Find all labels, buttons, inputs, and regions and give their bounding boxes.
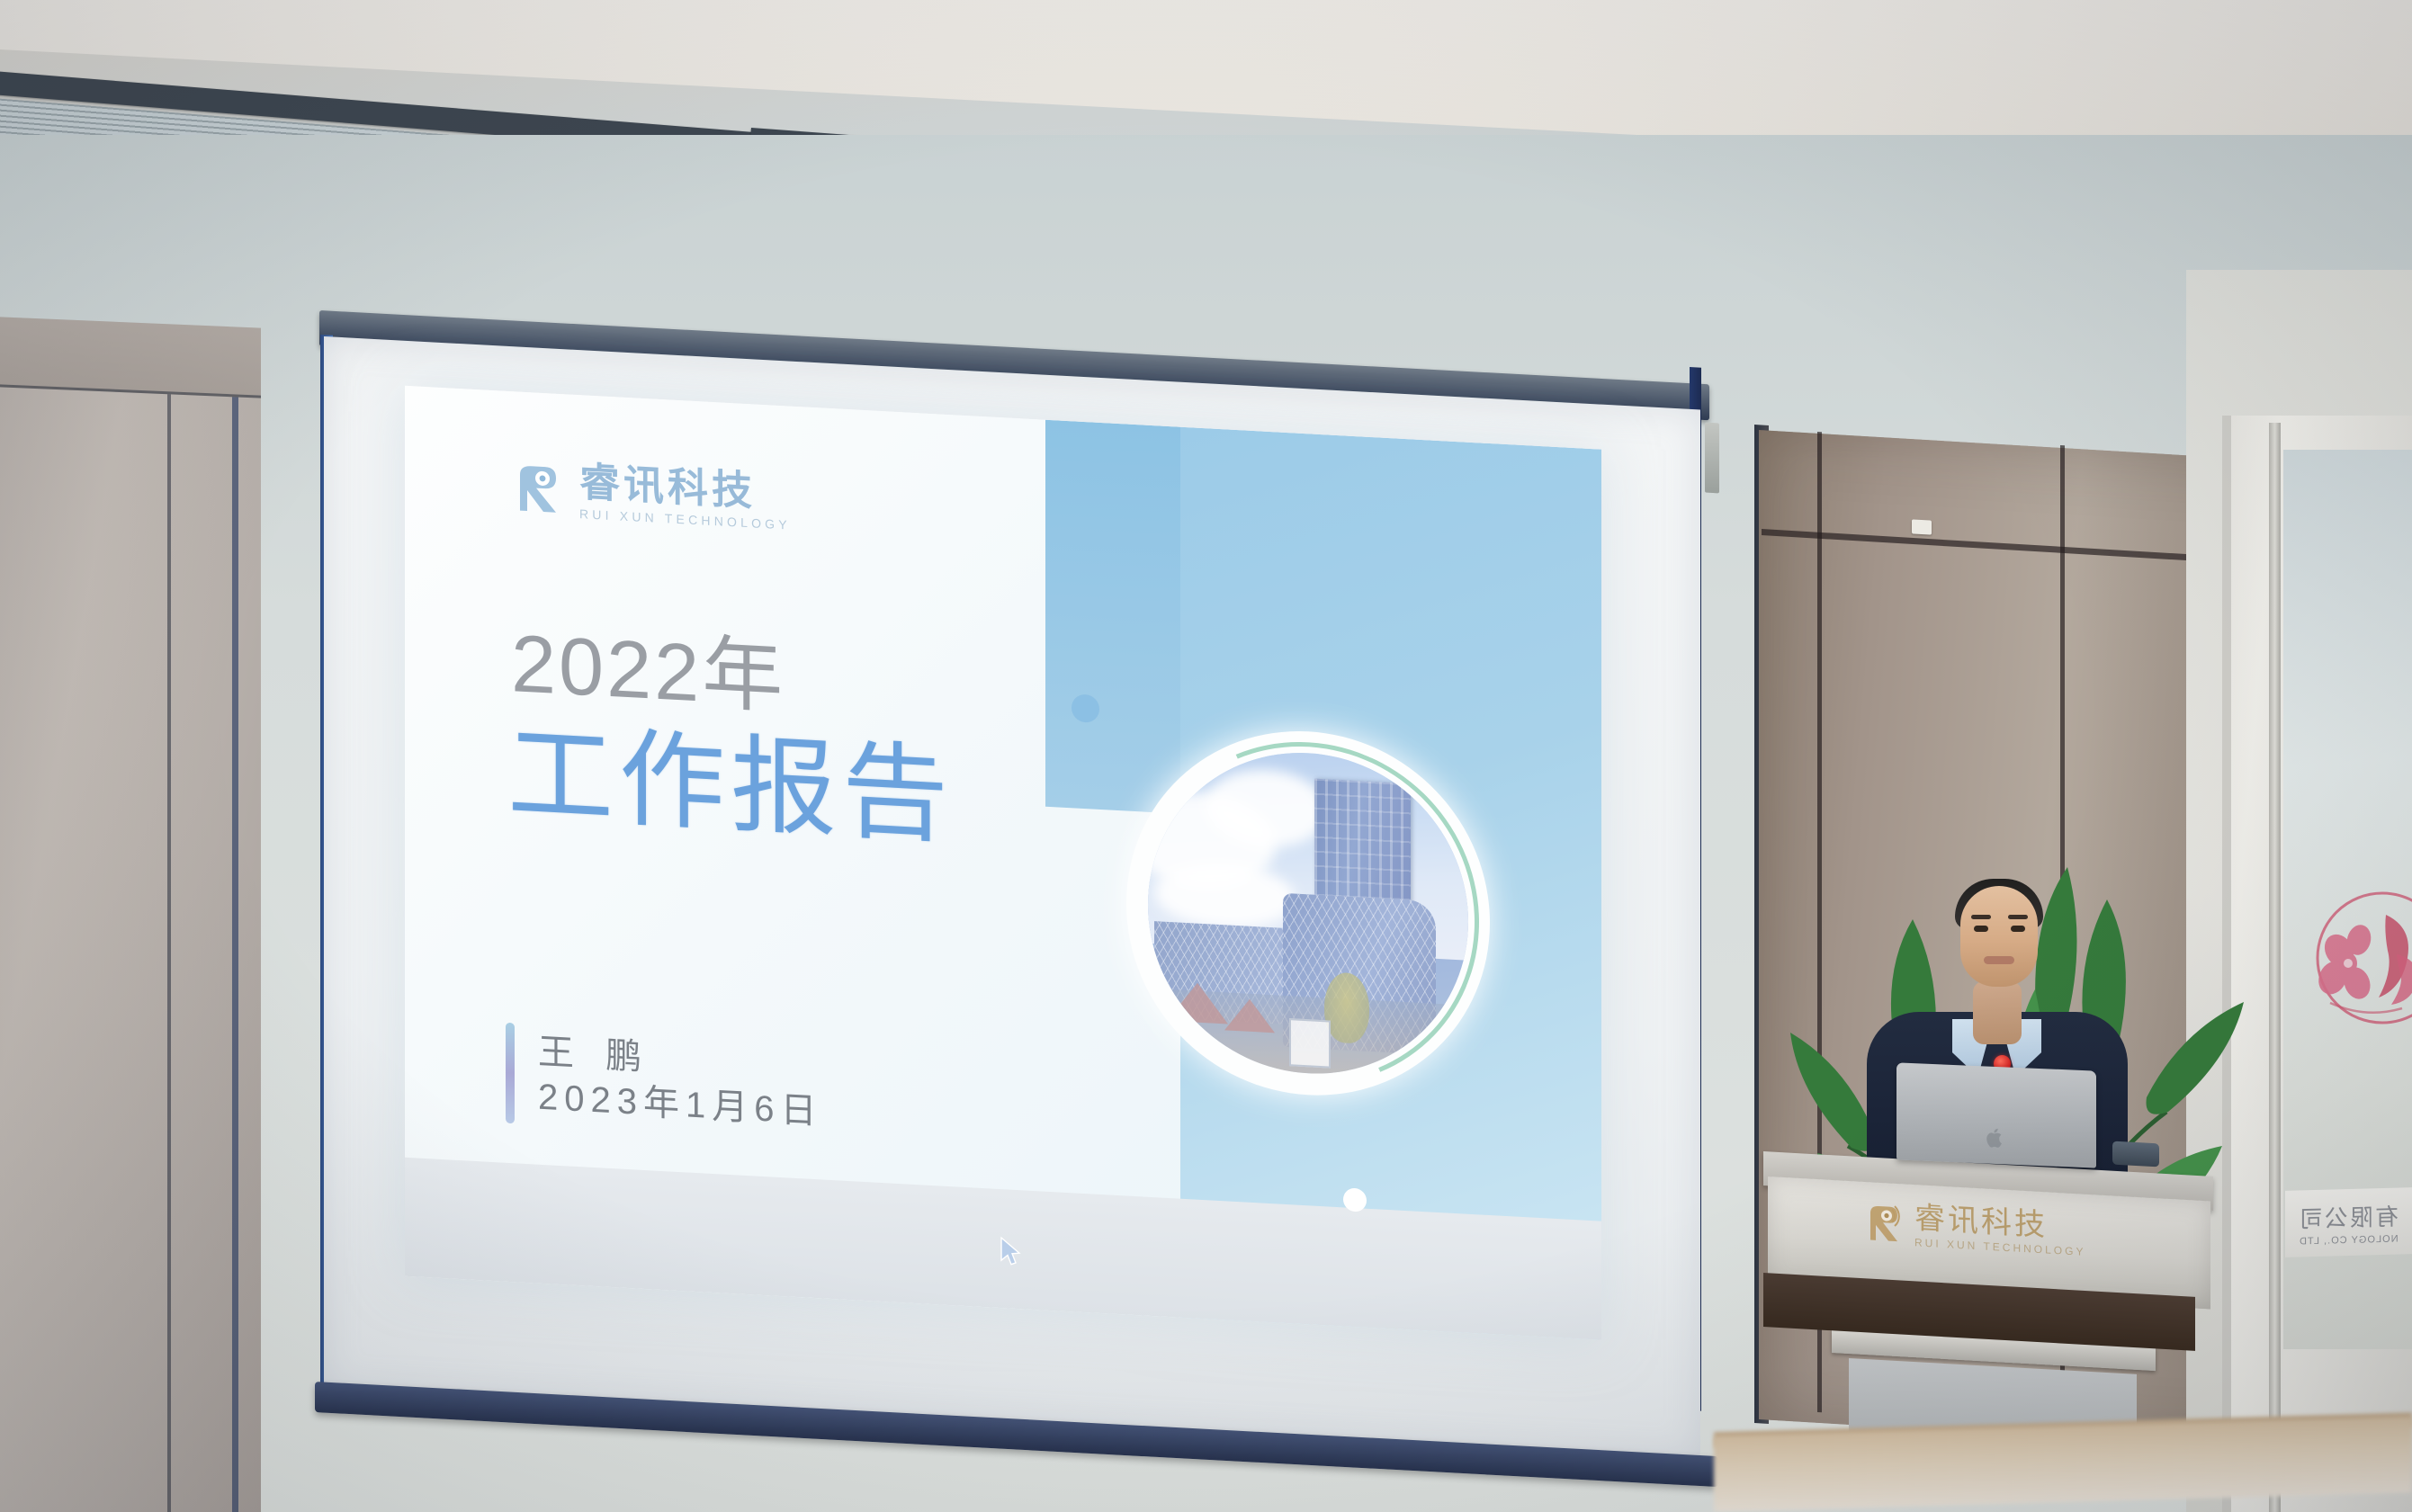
door-signage: 有限公司 NOLOGY CO., LTD xyxy=(2285,1187,2412,1257)
mobile-phone[interactable] xyxy=(2112,1141,2159,1168)
screen-canvas: 睿讯科技 RUI XUN TECHNOLOGY 2022年 工作报告 王 鹏 2… xyxy=(324,336,1700,1463)
decorative-dot-white xyxy=(1343,1187,1367,1212)
left-wood-panel-wall xyxy=(0,319,261,1512)
mouse-cursor-arrow-icon xyxy=(999,1236,1022,1267)
ruixun-logo-mark-icon xyxy=(509,460,565,518)
presenter-brow-left xyxy=(1971,915,1991,919)
projector-screen: 睿讯科技 RUI XUN TECHNOLOGY 2022年 工作报告 王 鹏 2… xyxy=(324,327,1700,1499)
ruixun-logo-mark-icon xyxy=(1862,1202,1904,1246)
apple-logo-icon xyxy=(1986,1128,2004,1149)
slide-logo-cn: 睿讯科技 xyxy=(579,461,791,514)
presenter-mouth xyxy=(1984,956,2014,964)
wall-sensor xyxy=(1912,519,1932,534)
presenter-brow-right xyxy=(2008,915,2028,919)
slide-title-year: 2022年 xyxy=(511,623,785,719)
laptop[interactable] xyxy=(1896,1062,2096,1168)
slide-title-main: 工作报告 xyxy=(507,720,954,850)
papercut-decoration-icon xyxy=(2303,868,2412,1048)
slide-photo-ring xyxy=(1126,722,1490,1105)
door-sign-en: NOLOGY CO., LTD xyxy=(2299,1233,2399,1247)
presenter-neck xyxy=(1973,981,2022,1044)
door-mullion xyxy=(2269,423,2281,1512)
presentation-slide[interactable]: 睿讯科技 RUI XUN TECHNOLOGY 2022年 工作报告 王 鹏 2… xyxy=(405,386,1601,1340)
presenter-head xyxy=(1960,886,2038,987)
byline-accent-bar xyxy=(506,1023,515,1124)
slide-logo: 睿讯科技 RUI XUN TECHNOLOGY xyxy=(509,458,791,532)
left-wood-panel-header xyxy=(0,317,261,398)
presenter-eye-left xyxy=(1974,926,1988,932)
door-sign-cn: 有限公司 xyxy=(2298,1198,2399,1234)
slide-byline: 王 鹏 2023年1月6日 xyxy=(506,1023,822,1141)
decorative-dot-blue xyxy=(1072,693,1099,723)
screen-mount-hook xyxy=(1705,423,1719,494)
conference-room-scene: 有限公司 NOLOGY CO., LTD xyxy=(0,0,2412,1512)
presenter-eye-right xyxy=(2011,926,2025,932)
